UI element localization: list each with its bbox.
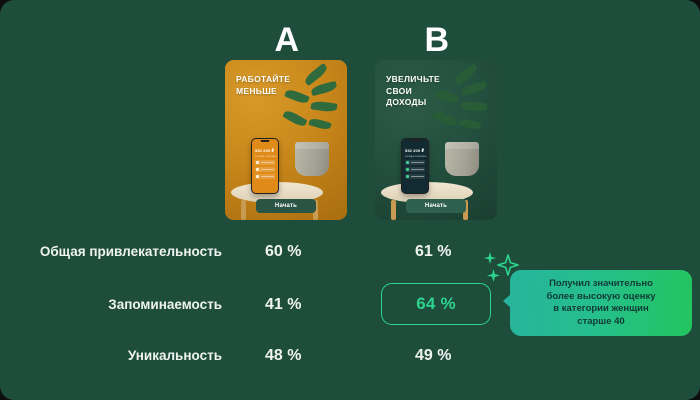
phone-mockup-a: 532 200 ₽ Сегодня потрачено bbox=[251, 138, 279, 194]
phone-list-item bbox=[255, 167, 275, 172]
phone-list-item bbox=[405, 160, 425, 165]
creative-card-b[interactable]: 532 200 ₽ Сегодня потрачено УВЕЛИЧЬТЕ СВ… bbox=[375, 60, 497, 220]
comparison-slide: A B 532 200 ₽ Сегодня потрачено bbox=[0, 0, 700, 400]
metric-value-b-overall-appeal: 61 % bbox=[415, 243, 451, 261]
phone-transaction-list-b bbox=[405, 160, 425, 181]
list-bullet-icon bbox=[406, 161, 409, 164]
flower-pot-a bbox=[295, 142, 329, 176]
insight-tooltip: Получил значительно более высокую оценку… bbox=[510, 270, 692, 336]
metric-label-uniqueness: Уникальность bbox=[0, 347, 222, 365]
list-bullet-icon bbox=[406, 175, 409, 178]
list-bullet-icon bbox=[256, 168, 259, 171]
metric-value-a-memorability: 41 % bbox=[265, 296, 301, 314]
creative-card-a[interactable]: 532 200 ₽ Сегодня потрачено РАБОТАЙТЕ МЕ… bbox=[225, 60, 347, 220]
list-bullet-icon bbox=[256, 175, 259, 178]
highlighted-metric-value: 64 % bbox=[416, 294, 456, 314]
phone-list-item bbox=[255, 174, 275, 179]
metric-label-overall-appeal: Общая привлекательность bbox=[0, 243, 222, 261]
phone-transaction-list-a bbox=[255, 160, 275, 181]
metric-label-memorability: Запоминаемость bbox=[0, 296, 222, 314]
metric-value-a-uniqueness: 48 % bbox=[265, 347, 301, 365]
phone-mockup-b: 532 200 ₽ Сегодня потрачено bbox=[401, 138, 429, 194]
creative-headline-b: УВЕЛИЧЬТЕ СВОИ ДОХОДЫ bbox=[386, 74, 466, 109]
sparkle-icon-small bbox=[484, 252, 496, 264]
creative-cta-b[interactable]: Начать bbox=[406, 199, 466, 213]
list-bullet-icon bbox=[256, 161, 259, 164]
metric-value-a-overall-appeal: 60 % bbox=[265, 243, 301, 261]
phone-list-item bbox=[405, 174, 425, 179]
metric-value-b-uniqueness: 49 % bbox=[415, 347, 451, 365]
sparkle-icon-tiny bbox=[487, 269, 500, 282]
phone-amount-a: 532 200 ₽ bbox=[255, 148, 274, 153]
list-bullet-icon bbox=[406, 168, 409, 171]
phone-list-item bbox=[255, 160, 275, 165]
creative-headline-a: РАБОТАЙТЕ МЕНЬШЕ bbox=[236, 74, 316, 97]
phone-subtitle-b: Сегодня потрачено bbox=[405, 155, 426, 158]
phone-list-item bbox=[405, 167, 425, 172]
phone-notch-icon bbox=[261, 140, 270, 142]
flower-pot-b bbox=[445, 142, 479, 176]
creative-cta-a[interactable]: Начать bbox=[256, 199, 316, 213]
phone-notch-icon bbox=[411, 140, 420, 142]
metric-value-b-memorability-highlight[interactable]: 64 % bbox=[381, 283, 491, 325]
variant-letter-b: B bbox=[407, 20, 467, 60]
phone-amount-b: 532 200 ₽ bbox=[405, 148, 424, 153]
variant-letter-a: A bbox=[257, 20, 317, 60]
phone-subtitle-a: Сегодня потрачено bbox=[255, 155, 276, 158]
